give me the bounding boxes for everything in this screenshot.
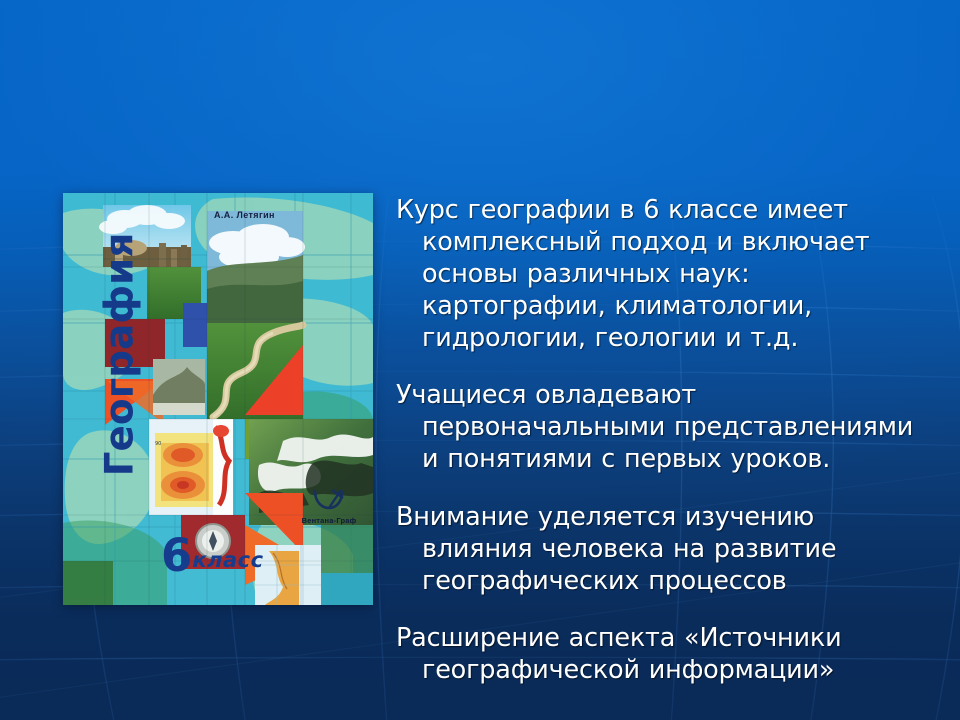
book-grade-label: 6класс xyxy=(161,529,264,582)
book-grade-word: класс xyxy=(192,548,263,572)
publisher-block: Вентана-Граф xyxy=(291,488,367,525)
book-title-text: География xyxy=(98,205,143,505)
bullet-item-1: Курс географии в 6 классе имеет комплекс… xyxy=(396,194,916,354)
bullet-item-2: Учащиеся овладевают первоначальными пред… xyxy=(396,379,916,475)
book-author-text: А.А. Летягин xyxy=(214,210,275,220)
bullet-item-3: Внимание уделяется изучению влияния чело… xyxy=(396,501,916,597)
bullet-item-4: Расширение аспекта «Источники географиче… xyxy=(396,622,916,686)
ventana-graf-logo-icon xyxy=(312,488,346,510)
bullet-list: Курс географии в 6 классе имеет комплекс… xyxy=(396,168,916,686)
textbook-cover-image: 90 xyxy=(63,193,373,605)
book-grade-number: 6 xyxy=(161,529,192,582)
publisher-name-text: Вентана-Граф xyxy=(291,516,367,525)
slide: 90 xyxy=(0,0,960,720)
